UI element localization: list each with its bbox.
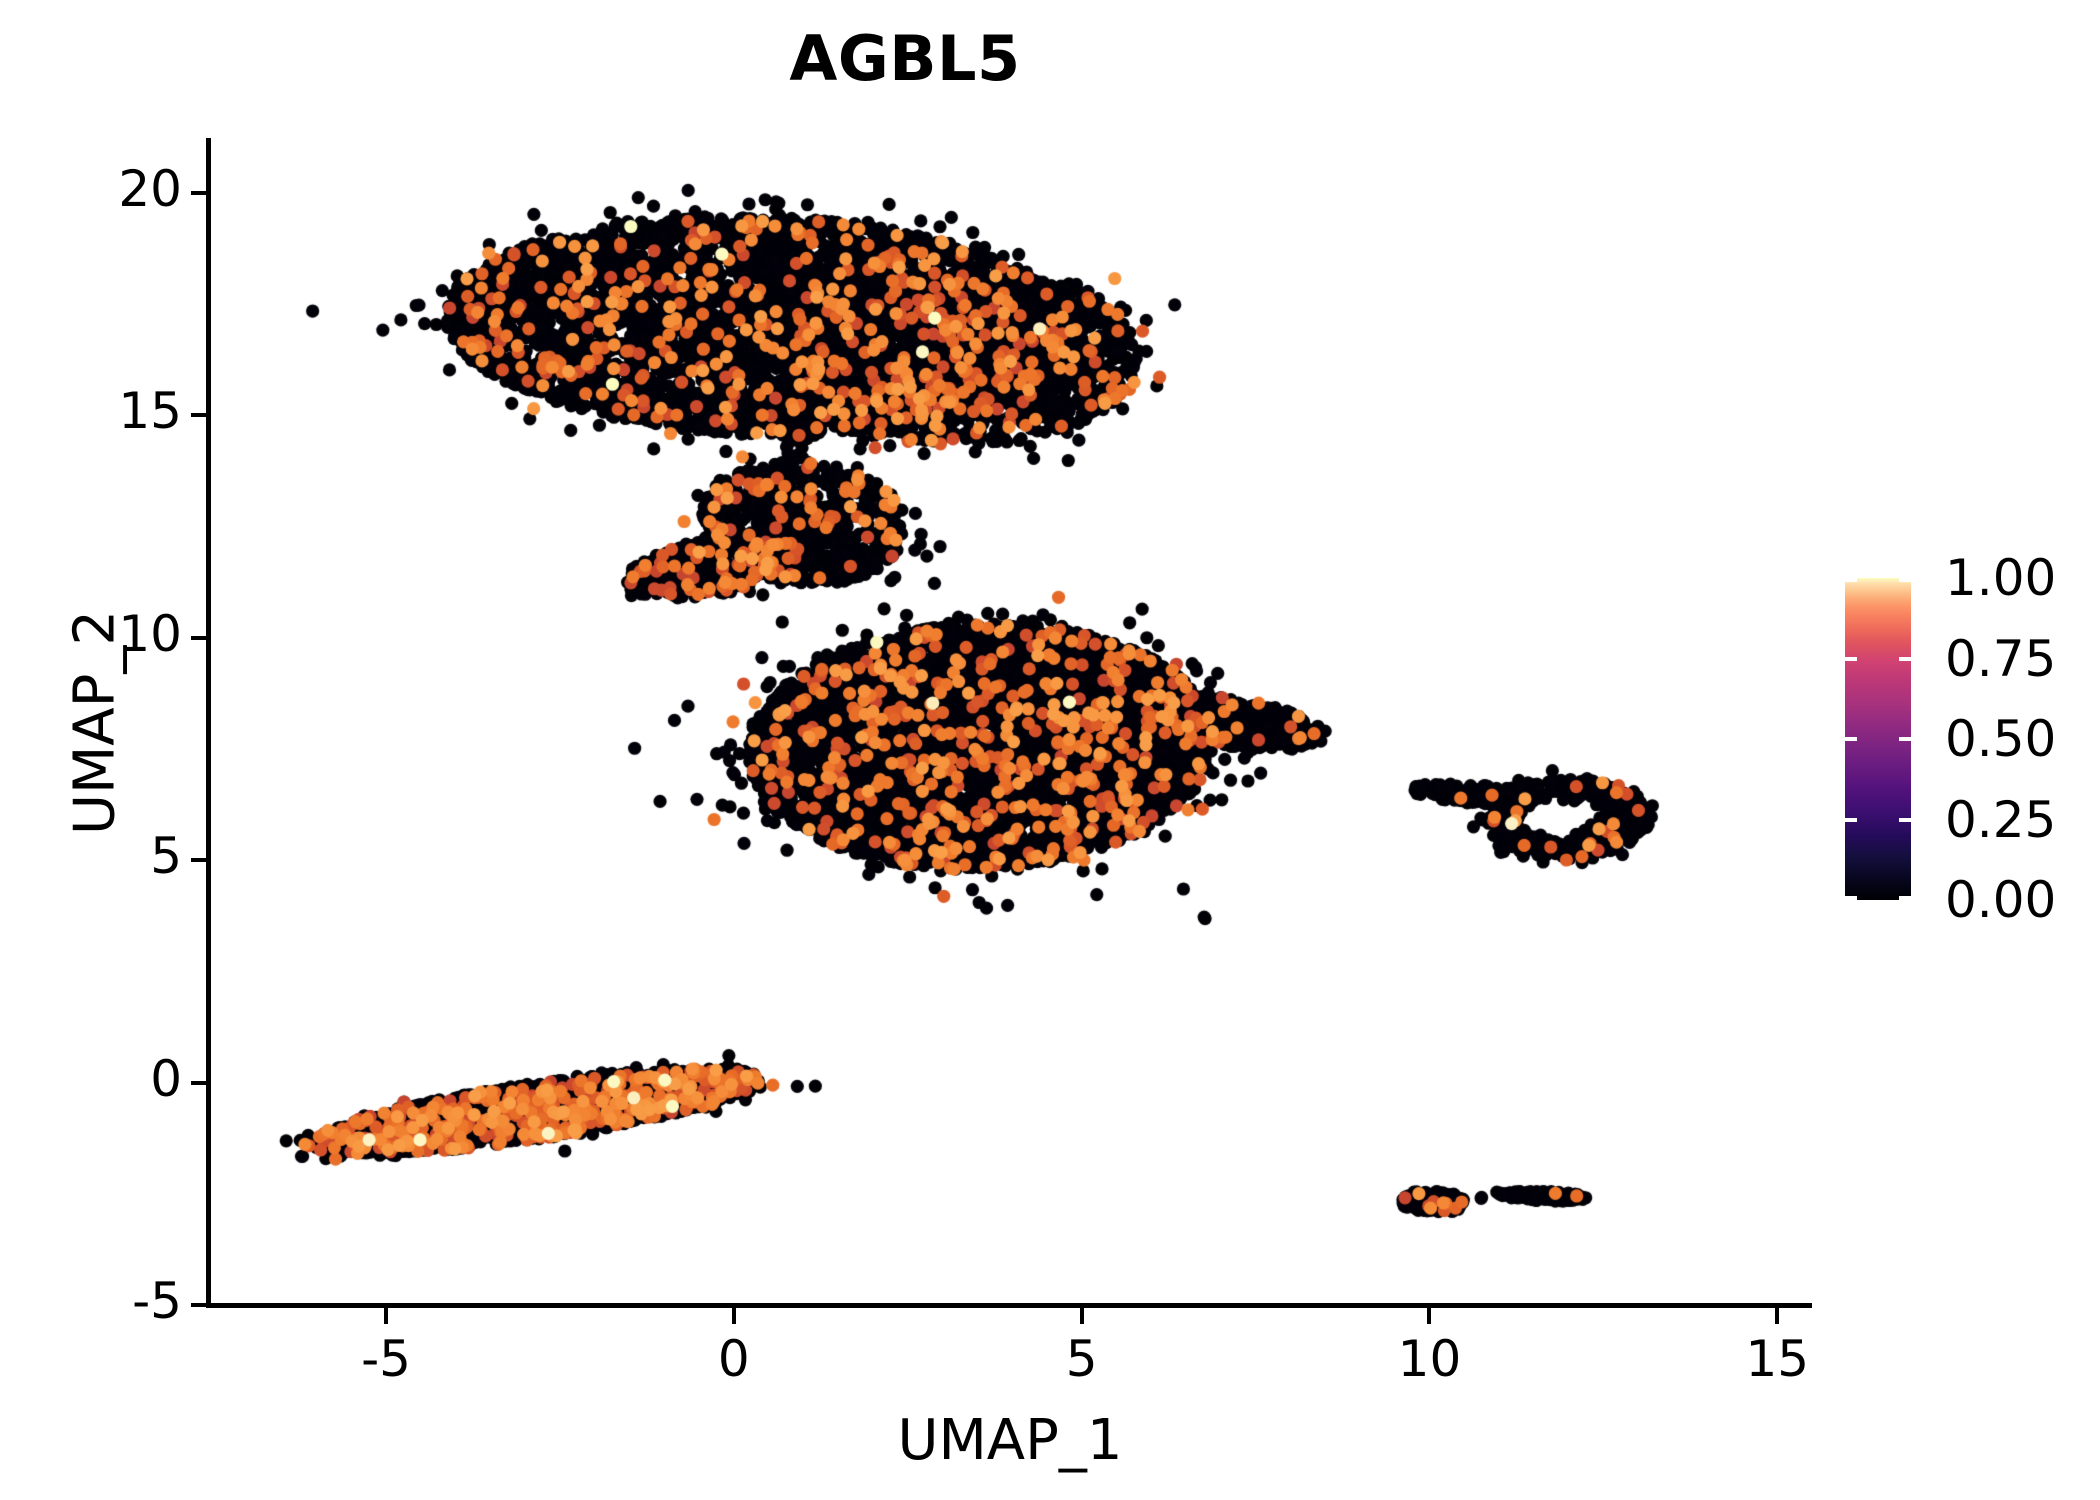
x-axis-spine [206,1303,1812,1308]
y-tick-label: 20 [0,160,182,218]
colorbar-tick-mark [1845,657,1857,661]
colorbar-tick-label: 0.50 [1945,710,2056,768]
y-tick-mark [191,191,207,195]
colorbar-tick-mark [1899,578,1911,582]
y-tick-mark [191,413,207,417]
y-tick-mark [191,858,207,862]
y-axis-spine [206,138,211,1308]
colorbar-tick-mark [1899,737,1911,741]
x-tick-label: 10 [1398,1330,1462,1388]
x-tick-mark [1427,1308,1431,1324]
colorbar: 1.000.750.500.250.00 [1845,578,2095,908]
colorbar-tick-mark [1845,896,1857,900]
x-tick-mark [1775,1308,1779,1324]
colorbar-tick-label: 1.00 [1945,549,2056,607]
x-tick-label: 0 [718,1330,750,1388]
x-axis-label: UMAP_1 [210,1408,1810,1473]
y-tick-mark [191,1303,207,1307]
x-tick-label: -5 [361,1330,411,1388]
colorbar-tick-mark [1845,737,1857,741]
colorbar-tick-mark [1899,818,1911,822]
colorbar-tick-mark [1899,896,1911,900]
colorbar-tick-label: 0.00 [1945,871,2056,929]
colorbar-tick-label: 0.25 [1945,791,2056,849]
x-tick-label: 15 [1745,1330,1809,1388]
scatter-plot-canvas [0,0,2100,1500]
umap-feature-plot-figure: AGBL5 20151050-5 -5051015 UMAP_1 UMAP_2 … [0,0,2100,1500]
x-tick-mark [732,1308,736,1324]
x-tick-mark [384,1308,388,1324]
page-title: AGBL5 [0,22,1810,95]
x-tick-mark [1080,1308,1084,1324]
colorbar-tick-mark [1899,657,1911,661]
y-tick-label: -5 [0,1272,182,1330]
y-tick-mark [191,1081,207,1085]
y-tick-mark [191,636,207,640]
colorbar-tick-label: 0.75 [1945,630,2056,688]
colorbar-tick-mark [1845,818,1857,822]
colorbar-tick-mark [1845,578,1857,582]
x-tick-label: 5 [1066,1330,1098,1388]
y-axis-label: UMAP_2 [63,323,128,1123]
